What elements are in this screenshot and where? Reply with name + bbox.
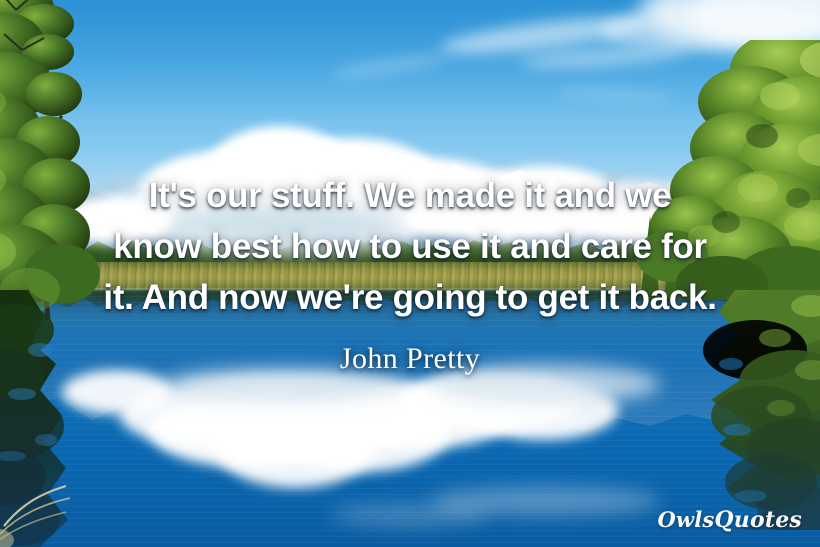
watermark-part-quotes: Quotes — [714, 507, 802, 533]
quote-image-canvas: It's our stuff. We made it and we know b… — [0, 0, 820, 547]
watermark-part-owls: Owls — [657, 507, 714, 532]
left-reflection-svg — [0, 290, 145, 547]
left-tree-reflection — [0, 290, 135, 547]
quote-text: It's our stuff. We made it and we know b… — [6, 170, 814, 323]
owlsquotes-watermark: OwlsQuotes — [657, 507, 802, 533]
quote-author: John Pretty — [0, 341, 820, 377]
right-reflection-svg — [615, 290, 820, 530]
right-forest-reflection — [615, 290, 820, 530]
